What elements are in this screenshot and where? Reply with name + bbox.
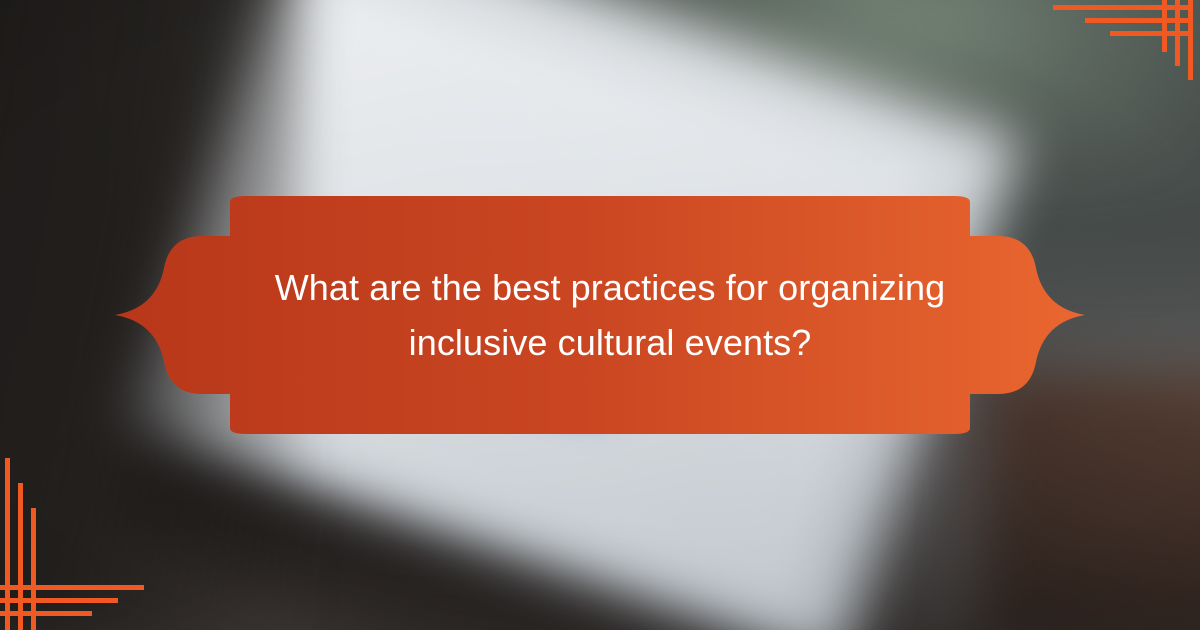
corner-line-v6: [31, 508, 36, 630]
corner-line-v2: [1175, 0, 1180, 66]
question-banner: What are the best practices for organizi…: [100, 196, 1100, 436]
corner-line-h4: [0, 611, 92, 616]
corner-line-h3: [1110, 31, 1193, 36]
banner-shape: [100, 196, 1100, 436]
corner-line-v4: [5, 458, 10, 630]
corner-line-v1: [1188, 0, 1193, 80]
social-card-canvas: What are the best practices for organizi…: [0, 0, 1200, 630]
corner-line-v5: [18, 483, 23, 630]
corner-line-v3: [1162, 0, 1167, 52]
corner-line-h1: [1053, 5, 1193, 10]
